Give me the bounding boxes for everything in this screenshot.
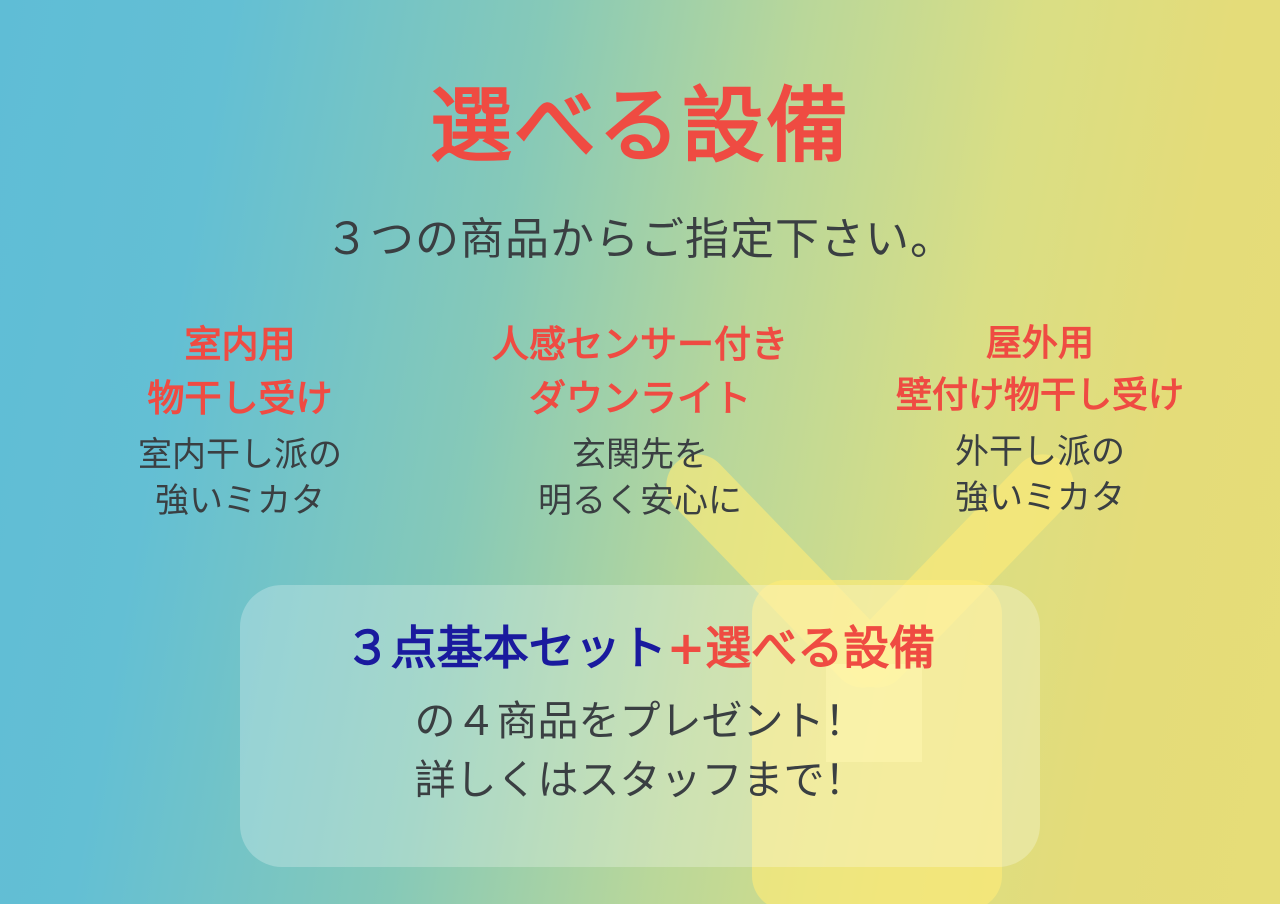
offer-subtext-line1: の４商品をプレゼント！ xyxy=(415,697,866,745)
product-heading-indoor-line1: 室内用 xyxy=(185,323,296,366)
offer-subtext: の４商品をプレゼント！ 詳しくはスタッフまで！ xyxy=(240,692,1040,811)
product-desc-outdoor: 外干し派の 強いミカタ xyxy=(844,430,1236,522)
product-desc-indoor: 室内干し派の 強いミカタ xyxy=(44,433,436,525)
product-desc-downlight-line1: 玄関先を xyxy=(572,435,708,475)
poster-content: 選べる設備 ３つの商品からご指定下さい。 室内用 物干し受け 室内干し派の 強い… xyxy=(0,0,1280,904)
poster-subtitle: ３つの商品からご指定下さい。 xyxy=(0,203,1280,267)
promo-poster: 選べる設備 ３つの商品からご指定下さい。 室内用 物干し受け 室内干し派の 強い… xyxy=(0,0,1280,904)
offer-block: ３点基本セット+選べる設備 の４商品をプレゼント！ 詳しくはスタッフまで！ xyxy=(240,585,1040,867)
product-desc-indoor-line2: 強いミカタ xyxy=(44,479,436,525)
product-heading-downlight: 人感センサー付き ダウンライト xyxy=(444,318,836,425)
product-column-indoor: 室内用 物干し受け 室内干し派の 強いミカタ xyxy=(40,318,440,525)
product-desc-downlight: 玄関先を 明るく安心に xyxy=(444,433,836,525)
product-heading-outdoor-line1: 屋外用 xyxy=(986,323,1094,364)
product-desc-outdoor-line1: 外干し派の xyxy=(955,432,1125,472)
product-heading-downlight-line2: ダウンライト xyxy=(444,372,836,426)
product-column-outdoor: 屋外用 壁付け物干し受け 外干し派の 強いミカタ xyxy=(840,318,1240,522)
product-heading-downlight-line1: 人感センサー付き xyxy=(492,323,788,366)
offer-headline-extra: +選べる設備 xyxy=(667,621,936,675)
product-heading-indoor-line2: 物干し受け xyxy=(44,372,436,426)
product-heading-outdoor: 屋外用 壁付け物干し受け xyxy=(844,318,1236,422)
offer-headline: ３点基本セット+選べる設備 xyxy=(240,623,1040,674)
product-heading-outdoor-line2: 壁付け物干し受け xyxy=(844,370,1236,422)
product-desc-downlight-line2: 明るく安心に xyxy=(444,479,836,525)
offer-subtext-line2: 詳しくはスタッフまで！ xyxy=(240,751,1040,810)
offer-headline-set: ３点基本セット xyxy=(345,621,667,675)
poster-title: 選べる設備 xyxy=(0,82,1280,172)
product-desc-outdoor-line2: 強いミカタ xyxy=(844,476,1236,522)
product-column-downlight: 人感センサー付き ダウンライト 玄関先を 明るく安心に xyxy=(440,318,840,525)
product-heading-indoor: 室内用 物干し受け xyxy=(44,318,436,425)
product-desc-indoor-line1: 室内干し派の xyxy=(138,435,342,475)
product-columns: 室内用 物干し受け 室内干し派の 強いミカタ 人感センサー付き ダウンライト 玄… xyxy=(40,318,1240,525)
